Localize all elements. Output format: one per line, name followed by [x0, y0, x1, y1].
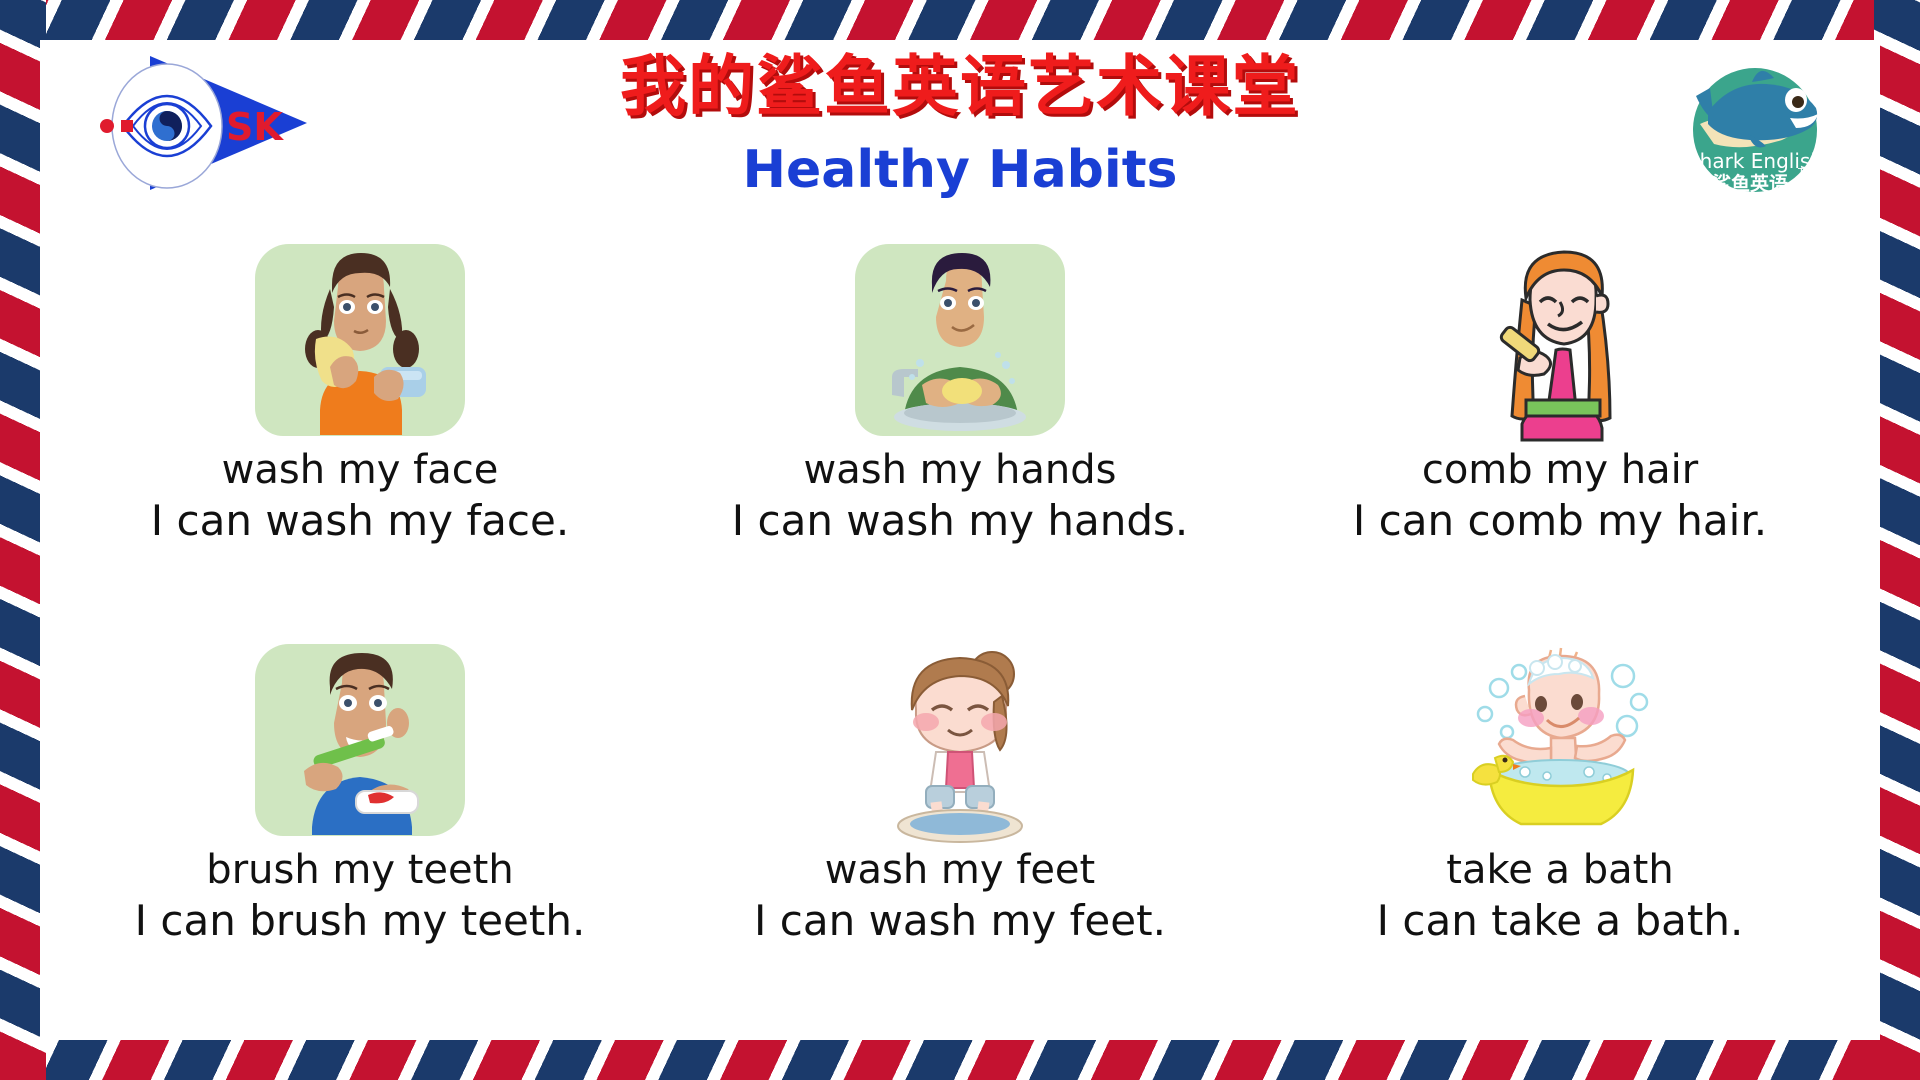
habit-sentence: I can wash my hands.	[732, 495, 1188, 546]
habit-sentence: I can take a bath.	[1377, 895, 1744, 946]
logo-dot-2	[121, 120, 133, 132]
shark-english-logo: Shark English 鲨鱼英语 TM	[1670, 48, 1840, 198]
header: SK 我的鲨鱼英语艺术课堂 Healthy Habits Shark Engli…	[0, 0, 1920, 230]
girl-washing-face-illustration	[245, 240, 475, 440]
caption-block: brush my teeth I can brush my teeth.	[135, 846, 586, 946]
habit-card-take-a-bath[interactable]: take a bath I can take a bath.	[1260, 640, 1860, 1040]
habit-card-wash-my-feet[interactable]: wash my feet I can wash my feet.	[660, 640, 1260, 1040]
caption-block: wash my hands I can wash my hands.	[732, 446, 1188, 546]
habit-sentence: I can comb my hair.	[1353, 495, 1767, 546]
habit-sentence: I can wash my face.	[151, 495, 569, 546]
boy-washing-hands-illustration	[845, 240, 1075, 440]
shark-brand-cn: 鲨鱼英语	[1712, 172, 1788, 195]
slide-canvas: SK 我的鲨鱼英语艺术课堂 Healthy Habits Shark Engli…	[0, 0, 1920, 1080]
page-title-en: Healthy Habits	[0, 140, 1920, 200]
border-bottom	[0, 1034, 1920, 1080]
habit-card-wash-my-face[interactable]: wash my face I can wash my face.	[60, 240, 660, 640]
habit-card-comb-my-hair[interactable]: comb my hair I can comb my hair.	[1260, 240, 1860, 640]
habit-phrase: comb my hair	[1353, 446, 1767, 495]
page-title-cn: 我的鲨鱼英语艺术课堂	[0, 52, 1920, 121]
girl-combing-hair-illustration	[1445, 240, 1675, 440]
habit-sentence: I can wash my feet.	[754, 895, 1166, 946]
habit-card-wash-my-hands[interactable]: wash my hands I can wash my hands.	[660, 240, 1260, 640]
shark-pupil-icon	[1792, 96, 1804, 108]
habit-phrase: wash my face	[151, 446, 569, 495]
habits-grid: wash my face I can wash my face.	[60, 240, 1860, 1040]
boy-brushing-teeth-illustration	[245, 640, 475, 840]
baby-taking-bath-illustration	[1445, 640, 1675, 840]
shark-trademark: TM	[1797, 166, 1814, 179]
habit-card-brush-my-teeth[interactable]: brush my teeth I can brush my teeth.	[60, 640, 660, 1040]
girl-washing-feet-illustration	[845, 640, 1075, 840]
habit-phrase: wash my feet	[754, 846, 1166, 895]
caption-block: wash my feet I can wash my feet.	[754, 846, 1166, 946]
caption-block: wash my face I can wash my face.	[151, 446, 569, 546]
habit-sentence: I can brush my teeth.	[135, 895, 586, 946]
caption-block: take a bath I can take a bath.	[1377, 846, 1744, 946]
habit-phrase: wash my hands	[732, 446, 1188, 495]
habit-phrase: take a bath	[1377, 846, 1744, 895]
habit-phrase: brush my teeth	[135, 846, 586, 895]
caption-block: comb my hair I can comb my hair.	[1353, 446, 1767, 546]
